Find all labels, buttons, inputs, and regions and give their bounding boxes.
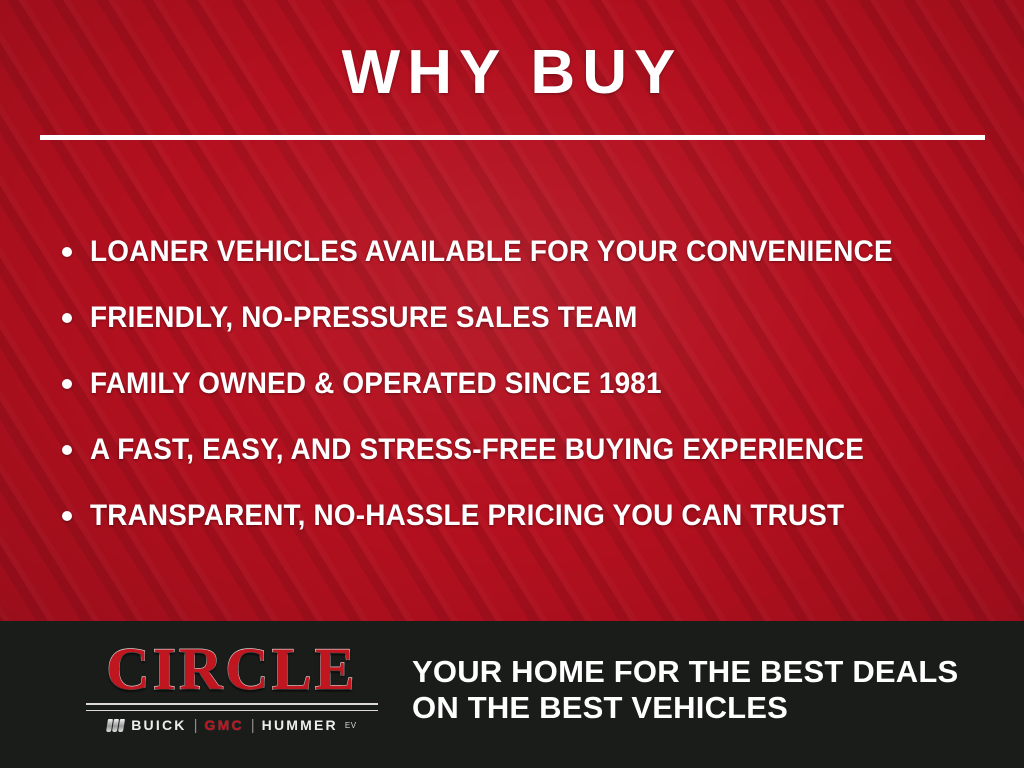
list-item: FAMILY OWNED & OPERATED SINCE 1981: [62, 351, 972, 417]
title-underline-rule: [40, 135, 985, 140]
logo-wordmark: CIRCLE: [86, 639, 378, 699]
list-item: LOANER VEHICLES AVAILABLE FOR YOUR CONVE…: [62, 219, 972, 285]
list-item: TRANSPARENT, NO-HASSLE PRICING YOU CAN T…: [62, 483, 972, 549]
brand-separator: |: [194, 718, 198, 733]
buick-tri-shield-icon: [107, 719, 124, 732]
list-item: A FAST, EASY, AND STRESS-FREE BUYING EXP…: [62, 417, 972, 483]
brand-label-buick: BUICK: [131, 718, 186, 732]
bullet-dot-icon: [62, 313, 72, 323]
tagline-line-1: YOUR HOME FOR THE BEST DEALS: [412, 654, 958, 690]
brand-label-hummer: HUMMER: [262, 718, 338, 732]
tagline-line-2: ON THE BEST VEHICLES: [412, 690, 958, 726]
brand-strip: BUICK | GMC | HUMMEREV: [86, 716, 378, 734]
logo-divider: [86, 703, 378, 711]
list-item-label: FRIENDLY, NO-PRESSURE SALES TEAM: [90, 301, 638, 335]
page-title: WHY BUY: [0, 42, 1024, 104]
dealer-logo: CIRCLE BUICK | GMC | HUMMEREV: [86, 639, 378, 734]
list-item-label: TRANSPARENT, NO-HASSLE PRICING YOU CAN T…: [90, 499, 844, 533]
why-buy-slide: WHY BUY LOANER VEHICLES AVAILABLE FOR YO…: [0, 0, 1024, 768]
list-item: FRIENDLY, NO-PRESSURE SALES TEAM: [62, 285, 972, 351]
bullet-dot-icon: [62, 445, 72, 455]
bullet-dot-icon: [62, 511, 72, 521]
brand-label-gmc: GMC: [205, 718, 244, 732]
footer-tagline: YOUR HOME FOR THE BEST DEALS ON THE BEST…: [412, 654, 958, 726]
bullet-dot-icon: [62, 379, 72, 389]
list-item-label: LOANER VEHICLES AVAILABLE FOR YOUR CONVE…: [90, 235, 893, 269]
list-item-label: FAMILY OWNED & OPERATED SINCE 1981: [90, 367, 662, 401]
brand-separator: |: [251, 718, 255, 733]
footer-bar: CIRCLE BUICK | GMC | HUMMEREV YOUR HOME …: [0, 621, 1024, 768]
brand-label-hummer-ev-suffix: EV: [345, 721, 357, 730]
bullet-dot-icon: [62, 247, 72, 257]
list-item-label: A FAST, EASY, AND STRESS-FREE BUYING EXP…: [90, 433, 864, 467]
benefits-list: LOANER VEHICLES AVAILABLE FOR YOUR CONVE…: [62, 219, 972, 549]
